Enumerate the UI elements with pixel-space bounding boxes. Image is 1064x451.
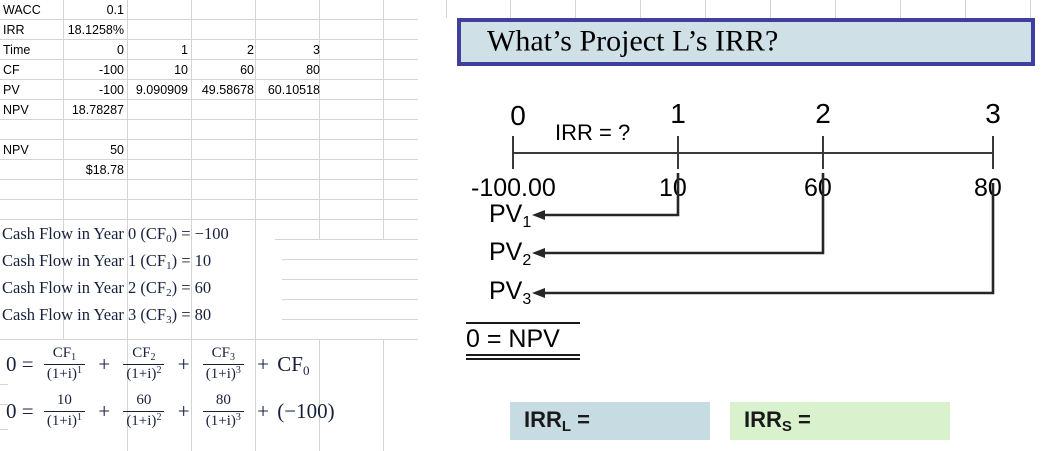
fraction-denominator: (1+i)2 xyxy=(123,364,164,383)
equation-lhs: 0 = xyxy=(6,352,34,376)
cell-value[interactable]: 50 xyxy=(64,140,127,160)
slide-title-banner: What’s Project L’s IRR? xyxy=(457,18,1035,66)
fraction-denominator: (1+i)2 xyxy=(123,411,164,430)
npv-underline-1 xyxy=(466,354,580,356)
cash-flow-text: Cash Flow in Year 3 (CF xyxy=(2,305,166,324)
timeline-axis xyxy=(513,152,993,154)
cell-value[interactable]: 1 xyxy=(128,40,191,60)
cell-label[interactable]: IRR xyxy=(3,20,61,40)
fraction-denominator: (1+i)3 xyxy=(203,364,244,383)
fraction-denominator: (1+i)1 xyxy=(44,411,85,430)
plus-operator: + xyxy=(257,352,269,377)
cash-flow-tail: ) = −100 xyxy=(172,224,229,243)
cash-flow-tail: ) = 60 xyxy=(172,278,212,297)
fraction-denominator: (1+i)3 xyxy=(203,411,244,430)
fraction-term-2: 60 (1+i)2 xyxy=(123,393,164,430)
irr-l-sub: L xyxy=(562,418,571,435)
cell-label[interactable]: WACC xyxy=(3,0,61,20)
denominator-base: (1+i) xyxy=(126,413,156,429)
plus-operator: + xyxy=(98,399,110,424)
cell-label[interactable]: CF xyxy=(3,60,61,80)
fraction-denominator: (1+i)1 xyxy=(44,364,85,383)
irr-l-label: IRRL = xyxy=(524,407,590,435)
equation-numeric: 0 = 10 (1+i)1 + 60 (1+i)2 + 80 (1+i)3 + … xyxy=(6,395,335,432)
timeline-period-0: 0 xyxy=(498,100,538,132)
grid-line-h xyxy=(282,259,418,260)
cash-flow-text: Cash Flow in Year 2 (CF xyxy=(2,278,166,297)
fraction-numerator: 60 xyxy=(123,393,164,411)
arrowhead-1 xyxy=(532,210,545,220)
cell-label[interactable]: NPV xyxy=(3,140,61,160)
equation-lhs: 0 = xyxy=(6,399,34,423)
cash-flow-tail: ) = 10 xyxy=(172,251,212,270)
cell-value[interactable]: 80 xyxy=(256,60,323,80)
fraction-numerator: CF3 xyxy=(203,346,244,364)
fraction-term-3: CF3 (1+i)3 xyxy=(203,346,244,383)
equation-symbolic: 0 = CF1 (1+i)1 + CF2 (1+i)2 + CF3 (1+i)3… xyxy=(6,348,309,385)
npv-underline-2 xyxy=(466,358,580,360)
npv-result-line: 0 = NPV xyxy=(466,325,560,354)
denominator-base: (1+i) xyxy=(47,413,77,429)
denominator-base: (1+i) xyxy=(47,366,77,382)
fraction-numerator: CF1 xyxy=(44,346,85,364)
denominator-sup: 2 xyxy=(156,365,161,376)
equation-last-sub: 0 xyxy=(303,363,310,378)
cell-value[interactable]: 2 xyxy=(192,40,257,60)
irr-question-label: IRR = ? xyxy=(555,120,630,146)
plus-operator: + xyxy=(98,352,110,377)
irr-s-base: IRR xyxy=(744,407,782,432)
cell-value[interactable]: 18.78287 xyxy=(64,100,127,120)
cash-flow-text: Cash Flow in Year 0 (CF xyxy=(2,224,166,243)
slide-title-text: What’s Project L’s IRR? xyxy=(487,24,778,58)
cell-value[interactable]: 9.090909 xyxy=(128,80,191,100)
equation-last-term: (−100) xyxy=(277,399,334,423)
denominator-sup: 3 xyxy=(236,365,241,376)
cash-flow-line-1: Cash Flow in Year 1 (CF1) = 10 xyxy=(2,251,211,272)
grid-line-v xyxy=(446,0,447,18)
plus-operator: + xyxy=(178,352,190,377)
denominator-sup: 2 xyxy=(156,412,161,423)
discount-arrow-2 xyxy=(542,173,823,253)
irr-l-box[interactable]: IRRL = xyxy=(510,402,710,440)
timeline-period-1: 1 xyxy=(658,98,698,130)
cell-label[interactable]: NPV xyxy=(3,100,61,120)
cell-value[interactable]: $18.78 xyxy=(64,160,127,180)
numerator-sub: 1 xyxy=(71,352,76,363)
cash-flow-text: Cash Flow in Year 1 (CF xyxy=(2,251,166,270)
numerator-base: 10 xyxy=(57,392,72,408)
numerator-base: 60 xyxy=(136,392,151,408)
grid-line-h xyxy=(275,239,418,240)
cell-value[interactable]: 60.10518 xyxy=(256,80,323,100)
cash-flow-line-2: Cash Flow in Year 2 (CF2) = 60 xyxy=(2,278,211,299)
fraction-term-3: 80 (1+i)3 xyxy=(203,393,244,430)
cell-value[interactable]: 3 xyxy=(256,40,323,60)
grid-line-h xyxy=(282,279,418,280)
irr-l-tail: = xyxy=(571,407,590,432)
irr-l-base: IRR xyxy=(524,407,562,432)
grid-line-v xyxy=(319,0,320,240)
cell-value[interactable]: 10 xyxy=(128,60,191,80)
cell-value[interactable]: 0.1 xyxy=(64,0,127,20)
irr-s-label: IRRS = xyxy=(744,407,811,435)
discount-arrows xyxy=(450,165,1064,325)
irr-s-tail: = xyxy=(792,407,811,432)
fraction-numerator: 80 xyxy=(203,393,244,411)
fraction-term-1: CF1 (1+i)1 xyxy=(44,346,85,383)
cell-value[interactable]: 49.58678 xyxy=(192,80,257,100)
denominator-base: (1+i) xyxy=(206,366,236,382)
arrowhead-3 xyxy=(532,288,545,298)
denominator-base: (1+i) xyxy=(206,413,236,429)
grid-line-h xyxy=(282,299,418,300)
timeline-period-3: 3 xyxy=(973,98,1013,130)
numerator-base: CF xyxy=(132,345,150,361)
fraction-term-2: CF2 (1+i)2 xyxy=(123,346,164,383)
fraction-numerator: CF2 xyxy=(123,346,164,364)
cash-flow-line-3: Cash Flow in Year 3 (CF3) = 80 xyxy=(2,305,211,326)
cell-value[interactable]: 18.1258% xyxy=(64,20,127,40)
numerator-sub: 2 xyxy=(151,352,156,363)
cash-flow-tail: ) = 80 xyxy=(172,305,212,324)
arrowhead-2 xyxy=(532,248,545,258)
cell-value[interactable]: -100 xyxy=(64,80,127,100)
denominator-sup: 1 xyxy=(77,365,82,376)
npv-top-rule xyxy=(466,322,580,324)
cell-label[interactable]: PV xyxy=(3,80,61,100)
numerator-sub: 3 xyxy=(230,352,235,363)
discount-arrow-1 xyxy=(542,173,678,215)
cash-flow-line-0: Cash Flow in Year 0 (CF0) = −100 xyxy=(2,224,229,245)
irr-s-box[interactable]: IRRS = xyxy=(730,402,950,440)
plus-operator: + xyxy=(178,399,190,424)
grid-line-h xyxy=(282,319,418,320)
numerator-base: 80 xyxy=(216,392,231,408)
slide-panel: What’s Project L’s IRR? 0 1 2 3 IRR = ? … xyxy=(450,0,1064,451)
grid-line-v xyxy=(383,0,384,240)
grid-line-v xyxy=(383,339,384,451)
denominator-sup: 3 xyxy=(236,412,241,423)
cell-value[interactable]: -100 xyxy=(64,60,127,80)
discount-arrow-3 xyxy=(542,183,993,293)
equation-last-term: CF xyxy=(277,352,303,376)
numerator-base: CF xyxy=(212,345,230,361)
irr-s-sub: S xyxy=(782,418,792,435)
fraction-numerator: 10 xyxy=(44,393,85,411)
plus-operator: + xyxy=(257,399,269,424)
denominator-base: (1+i) xyxy=(126,366,156,382)
cell-label[interactable]: Time xyxy=(3,40,61,60)
cell-value[interactable]: 60 xyxy=(192,60,257,80)
fraction-term-1: 10 (1+i)1 xyxy=(44,393,85,430)
cell-value[interactable]: 0 xyxy=(64,40,127,60)
numerator-base: CF xyxy=(53,345,71,361)
denominator-sup: 1 xyxy=(77,412,82,423)
timeline-period-2: 2 xyxy=(803,98,843,130)
